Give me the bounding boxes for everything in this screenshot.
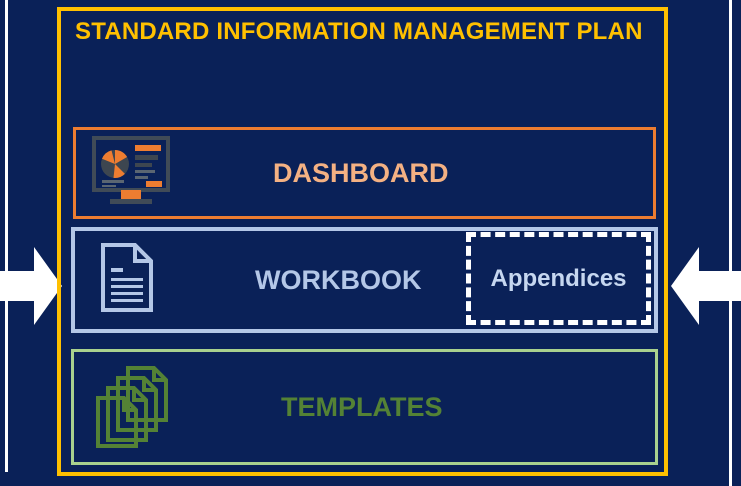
component-label-templates: TEMPLATES bbox=[281, 392, 443, 423]
diagram-canvas: STANDARD INFORMATION MANAGEMENT PLAN bbox=[0, 0, 741, 486]
arrow-right-icon bbox=[0, 247, 62, 330]
component-label-workbook: WORKBOOK bbox=[255, 265, 421, 296]
component-row-dashboard[interactable]: DASHBOARD bbox=[73, 127, 656, 219]
dashboard-monitor-icon bbox=[90, 135, 172, 212]
document-page-icon bbox=[99, 242, 157, 319]
right-edge-rule bbox=[729, 0, 732, 486]
component-row-templates[interactable]: TEMPLATES bbox=[71, 349, 658, 465]
left-edge-rule bbox=[5, 0, 8, 472]
page-title: STANDARD INFORMATION MANAGEMENT PLAN bbox=[75, 18, 643, 46]
arrow-left-icon bbox=[671, 247, 741, 330]
stacked-documents-icon bbox=[92, 362, 178, 453]
appendices-box[interactable]: Appendices bbox=[466, 232, 651, 325]
component-label-dashboard: DASHBOARD bbox=[273, 158, 449, 189]
appendices-label: Appendices bbox=[490, 265, 626, 293]
